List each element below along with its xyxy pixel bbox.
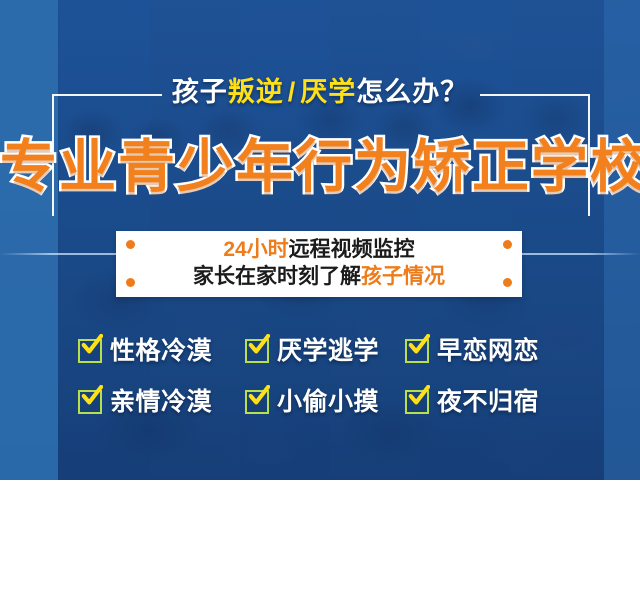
- kicker-highlight2: 厌学: [300, 77, 356, 107]
- check-mark-icon: [81, 385, 103, 407]
- checkbox-checked-icon: [245, 339, 269, 363]
- checklist-row-1: 性格冷漠 厌学逃学 早恋网恋: [0, 336, 640, 378]
- checklist-item-1-1: 小偷小摸: [245, 387, 379, 417]
- subtitle-line-2: 家长在家时刻了解孩子情况: [116, 264, 522, 290]
- subtitle-line1-highlight: 24小时: [223, 238, 288, 261]
- checklist-item-1-0: 亲情冷漠: [78, 387, 212, 417]
- checkbox-checked-icon: [405, 390, 429, 414]
- checklist-item-0-1: 厌学逃学: [245, 336, 379, 366]
- subtitle-line2-rest: 家长在家时刻了解: [193, 265, 361, 288]
- subtitle-panel: 24小时远程视频监控 家长在家时刻了解孩子情况: [116, 231, 522, 297]
- hero-banner: 孩子叛逆/厌学怎么办？ 专业青少年行为矫正学校 24小时远程视频监控 家长在家时…: [0, 0, 640, 480]
- checklist-label: 早恋网恋: [437, 336, 539, 366]
- checklist: 性格冷漠 厌学逃学 早恋网恋: [0, 336, 640, 429]
- subtitle-line2-highlight: 孩子情况: [361, 265, 445, 288]
- footer-strip: ↓↓ 量身定制教育方案 · 帮助孩子重返校园 ↓↓ 头条 @励志老爸说教育: [0, 480, 640, 610]
- kicker-line: 孩子叛逆/厌学怎么办？: [0, 76, 640, 108]
- checklist-label: 小偷小摸: [277, 387, 379, 417]
- check-mark-icon: [248, 334, 270, 356]
- check-mark-icon: [408, 334, 430, 356]
- kicker-highlight1: 叛逆: [228, 77, 284, 107]
- check-mark-icon: [248, 385, 270, 407]
- kicker-part2: 怎么办？: [356, 77, 468, 107]
- checkbox-checked-icon: [245, 390, 269, 414]
- checklist-label: 亲情冷漠: [110, 387, 212, 417]
- poster-root: 孩子叛逆/厌学怎么办？ 专业青少年行为矫正学校 24小时远程视频监控 家长在家时…: [0, 0, 640, 610]
- check-mark-icon: [408, 385, 430, 407]
- main-title: 专业青少年行为矫正学校: [0, 134, 640, 200]
- check-mark-icon: [81, 334, 103, 356]
- kicker-part1: 孩子: [172, 77, 228, 107]
- kicker-slash: /: [288, 77, 297, 107]
- checklist-item-0-2: 早恋网恋: [405, 336, 539, 366]
- checklist-label: 厌学逃学: [277, 336, 379, 366]
- checklist-item-1-2: 夜不归宿: [405, 387, 539, 417]
- checklist-row-2: 亲情冷漠 小偷小摸 夜不归宿: [0, 387, 640, 429]
- checklist-label: 夜不归宿: [437, 387, 539, 417]
- checkbox-checked-icon: [405, 339, 429, 363]
- checkbox-checked-icon: [78, 339, 102, 363]
- checklist-item-0-0: 性格冷漠: [78, 336, 212, 366]
- checklist-label: 性格冷漠: [110, 336, 212, 366]
- subtitle-line-1: 24小时远程视频监控: [116, 237, 522, 263]
- subtitle-line1-rest: 远程视频监控: [289, 238, 415, 261]
- checkbox-checked-icon: [78, 390, 102, 414]
